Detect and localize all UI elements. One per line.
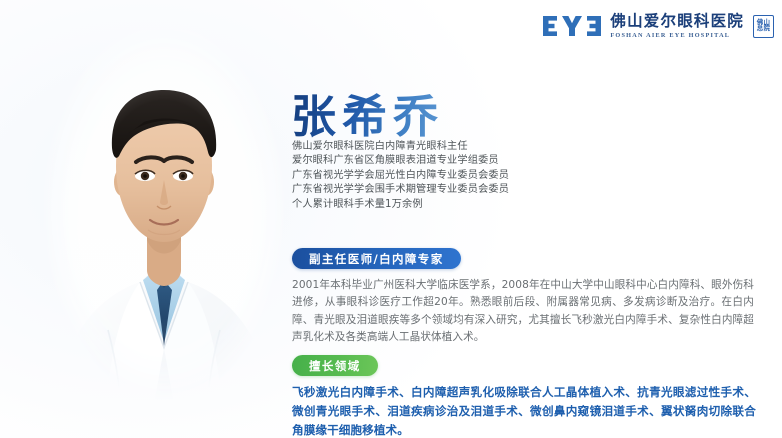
portrait-container — [44, 30, 284, 438]
credential-item: 广东省视光学学会屈光性白内障专业委员会委员 — [292, 169, 509, 183]
doctor-credentials: 佛山爱尔眼科医院白内障青光眼科主任 爱尔眼科广东省区角膜眼表泪道专业学组委员 广… — [292, 140, 509, 212]
doctor-portrait — [44, 30, 284, 438]
title-badge: 副主任医师/白内障专家 — [292, 248, 461, 269]
profile-content: 张希乔 佛山爱尔眼科医院白内障青光眼科主任 爱尔眼科广东省区角膜眼表泪道专业学组… — [291, 0, 761, 438]
specialty-text: 飞秒激光白内障手术、白内障超声乳化吸除联合人工晶体植入术、抗青光眼滤过性手术、微… — [292, 383, 756, 438]
credential-item: 爱尔眼科广东省区角膜眼表泪道专业学组委员 — [292, 154, 509, 168]
credential-item: 佛山爱尔眼科医院白内障青光眼科主任 — [292, 140, 509, 154]
doctor-profile-card: 佛山爱尔眼科医院 FOSHAN AIER EYE HOSPITAL 佛山 总院 … — [0, 0, 782, 438]
specialty-badge: 擅长领域 — [292, 355, 378, 376]
credential-item: 个人累计眼科手术量1万余例 — [292, 198, 509, 212]
doctor-bio: 2001年本科毕业广州医科大学临床医学系，2008年在中山大学中山眼科中心白内障… — [292, 277, 754, 347]
doctor-name: 张希乔 — [291, 80, 444, 145]
credential-item: 广东省视光学学会围手术期管理专业委员会委员 — [292, 183, 509, 197]
